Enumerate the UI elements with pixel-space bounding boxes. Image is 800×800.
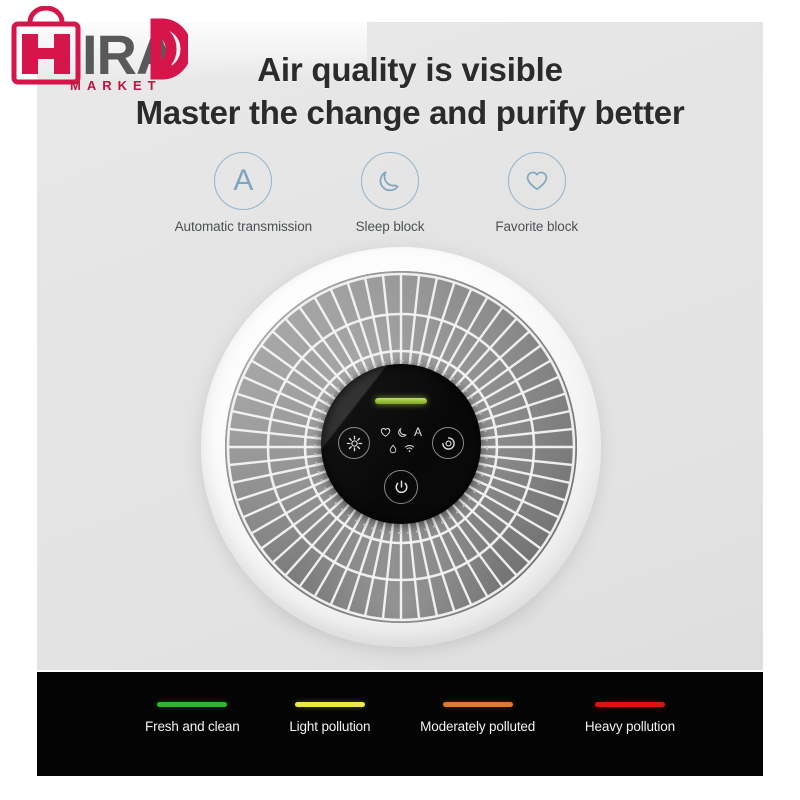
- legend-item-heavy-pollution: Heavy pollution: [585, 702, 675, 734]
- mode-cycle-icon: [440, 435, 457, 452]
- marketing-page: IRA MARKET Air quality is visible Master…: [0, 0, 800, 800]
- power-button[interactable]: [384, 470, 418, 504]
- legend-label: Light pollution: [289, 719, 370, 734]
- feature-label: Automatic transmission: [175, 219, 312, 234]
- crescent-moon-icon: [361, 152, 419, 210]
- legend-color-bar: [295, 702, 365, 707]
- svg-text:MARKET: MARKET: [70, 78, 162, 92]
- status-indicator-group: A: [370, 426, 432, 454]
- feature-favorite-block[interactable]: Favorite block: [463, 152, 610, 234]
- legend-color-bar: [595, 702, 665, 707]
- feature-sleep-block[interactable]: Sleep block: [317, 152, 464, 234]
- legend-items: Fresh and clean Light pollution Moderate…: [145, 702, 675, 734]
- auto-a-icon: A: [414, 426, 422, 438]
- heart-icon: [380, 427, 391, 438]
- status-row-primary: A: [380, 426, 422, 438]
- fan-speed-button[interactable]: [338, 427, 370, 459]
- status-row-secondary: [388, 443, 415, 454]
- feature-list: A Automatic transmission Sleep block Fav…: [170, 152, 610, 234]
- feature-automatic-transmission[interactable]: A Automatic transmission: [170, 152, 317, 234]
- legend-item-light-pollution: Light pollution: [289, 702, 370, 734]
- water-drop-icon: [388, 444, 398, 454]
- feature-label: Sleep block: [356, 219, 425, 234]
- legend-color-bar: [443, 702, 513, 707]
- fan-speed-icon: [346, 435, 363, 452]
- shopping-bag-h-icon: [14, 8, 78, 82]
- legend-label: Fresh and clean: [145, 719, 240, 734]
- legend-item-fresh-and-clean: Fresh and clean: [145, 702, 240, 734]
- legend-color-bar: [157, 702, 227, 707]
- moon-icon: [397, 427, 408, 438]
- letter-a-glyph: A: [233, 166, 253, 196]
- mode-cycle-button[interactable]: [432, 427, 464, 459]
- wifi-icon: [404, 443, 415, 454]
- letter-a-icon: A: [214, 152, 272, 210]
- air-quality-led-indicator: [375, 398, 427, 404]
- power-icon: [393, 479, 410, 496]
- legend-item-moderately-polluted: Moderately polluted: [420, 702, 535, 734]
- hirad-market-logo[interactable]: IRA MARKET: [8, 6, 188, 92]
- control-panel[interactable]: A: [321, 364, 481, 524]
- air-quality-legend: Fresh and clean Light pollution Moderate…: [37, 672, 763, 776]
- heart-icon: [508, 152, 566, 210]
- legend-label: Heavy pollution: [585, 719, 675, 734]
- legend-label: Moderately polluted: [420, 719, 535, 734]
- feature-label: Favorite block: [495, 219, 578, 234]
- air-purifier: A: [197, 243, 607, 653]
- headline-line-2: Master the change and purify better: [80, 93, 740, 133]
